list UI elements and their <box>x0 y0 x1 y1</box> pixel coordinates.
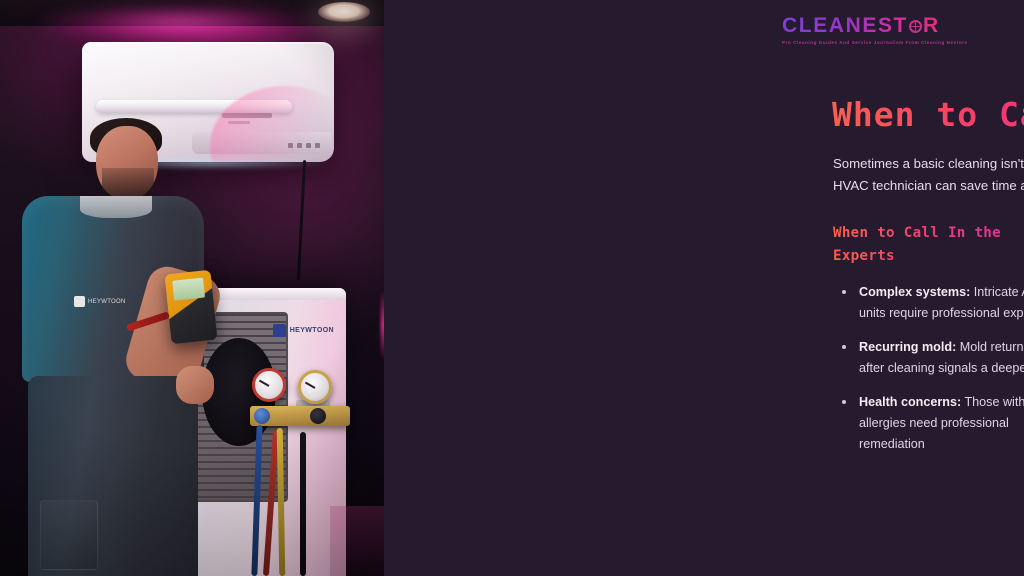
list-item: Complex systems: Intricate AC units requ… <box>833 282 1024 324</box>
photo-floor-reflection <box>330 506 384 576</box>
brand-wordmark: CLEANESTR <box>782 14 968 38</box>
low-pressure-gauge <box>252 368 286 402</box>
ac-indicator-leds <box>288 143 320 148</box>
ac-brand-mark <box>222 113 272 118</box>
content-panel: CLEANESTR Pro Cleaning Guides And Servic… <box>384 0 1024 576</box>
hero-photo: HEYWTOON HEYWTOON <box>0 0 384 576</box>
technician-collar <box>80 196 152 218</box>
experts-heading: When to Call In the Experts <box>833 222 1024 268</box>
ac-louver-flap <box>192 132 332 154</box>
trouser-cargo-pocket <box>40 500 98 570</box>
list-item: Health concerns: Those with mold allergi… <box>833 392 1024 455</box>
refrigerant-manifold-gauges <box>252 368 348 438</box>
high-pressure-gauge <box>298 370 332 404</box>
uniform-chest-logo: HEYWTOON <box>74 296 126 307</box>
technician-hand <box>176 366 214 404</box>
bullet-term: Health concerns: <box>859 395 961 409</box>
magenta-glow-strip <box>40 6 320 40</box>
columns-wrapper: When to Call In the Experts Complex syst… <box>833 222 1024 514</box>
black-probe-cable <box>300 432 306 576</box>
experts-bullet-list: Complex systems: Intricate AC units requ… <box>833 282 1024 455</box>
condenser-brand-logo: HEYWTOON <box>273 324 334 337</box>
brand-logo[interactable]: CLEANESTR Pro Cleaning Guides And Servic… <box>782 14 968 45</box>
page-title: When to Call a Professional <box>832 95 1024 134</box>
bullet-term: Recurring mold: <box>859 340 956 354</box>
page-subtitle: Sometimes a basic cleaning isn't enough.… <box>833 153 1024 197</box>
brand-name-part1: CLEANEST <box>782 14 908 38</box>
bullet-term: Complex systems: <box>859 285 970 299</box>
globe-icon <box>909 20 922 33</box>
ceiling-downlight-icon <box>318 2 370 22</box>
list-item: Recurring mold: Mold returning after cle… <box>833 337 1024 379</box>
hvac-technician: HEYWTOON <box>18 118 208 576</box>
brand-name-part2: R <box>923 14 940 38</box>
manifold-blue-valve-knob <box>254 408 270 424</box>
brand-tagline: Pro Cleaning Guides And Service Journali… <box>782 40 968 45</box>
manifold-black-valve-knob <box>310 408 326 424</box>
ac-model-mark <box>228 121 250 124</box>
slide: HEYWTOON HEYWTOON <box>0 0 1024 576</box>
digital-multimeter <box>164 270 217 344</box>
experts-column: When to Call In the Experts Complex syst… <box>833 222 1024 514</box>
ac-air-vent <box>96 100 292 113</box>
